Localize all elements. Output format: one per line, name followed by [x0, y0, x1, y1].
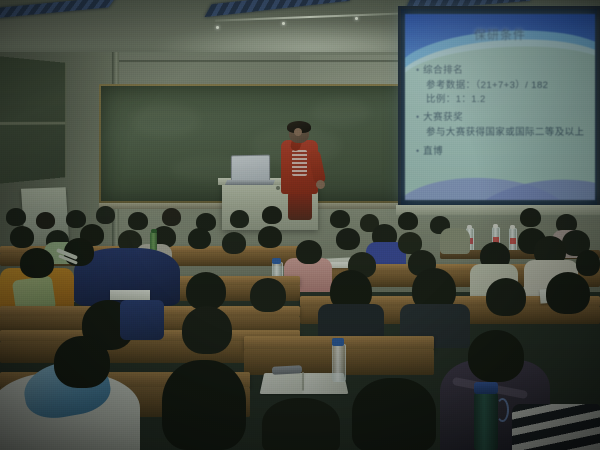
- bullet-marker: •: [416, 64, 419, 77]
- water-bottle: [332, 344, 346, 382]
- student-head: [296, 240, 322, 264]
- student-head: [182, 306, 232, 354]
- laptop-keyboard-base: [225, 180, 275, 185]
- slide-body: • 综合排名 参考数据：（21+7+3）/ 182 比例：1：1.2 • 大赛获…: [416, 64, 588, 160]
- student-head: [352, 378, 436, 450]
- thermos-bottle: [474, 392, 498, 450]
- student-head: [546, 272, 590, 314]
- bottle-cap: [272, 258, 281, 264]
- bottle-cap: [332, 338, 344, 346]
- slide-title: 保研条件: [405, 26, 595, 43]
- rail-highlight: [355, 17, 358, 20]
- side-wall-board: [0, 56, 67, 184]
- bullet-text: 大赛获奖: [423, 111, 463, 124]
- student-head: [230, 210, 249, 228]
- student-torso: [120, 300, 164, 340]
- student-head: [96, 206, 115, 224]
- student-head: [250, 278, 286, 312]
- student-head: [188, 228, 211, 249]
- student-torso: [440, 228, 470, 254]
- student-head: [128, 212, 148, 230]
- student-head: [468, 330, 524, 382]
- student-head: [222, 232, 246, 254]
- student-head: [262, 206, 282, 224]
- student-head: [54, 336, 110, 388]
- bottle-cap: [510, 225, 515, 229]
- lecture-hall-photo: 保研条件 • 综合排名 参考数据：（21+7+3）/ 182 比例：1：1.2 …: [0, 0, 600, 450]
- student-head: [486, 278, 526, 316]
- shirt-graphic-print: [292, 150, 307, 176]
- notebook: [110, 290, 150, 300]
- bullet-subtext: 参与大赛获得国家或国际二等及以上: [426, 126, 588, 140]
- slide-bullet: • 综合排名: [416, 64, 588, 77]
- bullet-text: 综合排名: [423, 64, 463, 77]
- student-head: [162, 208, 181, 226]
- slide-bullet: • 大赛获奖: [416, 111, 588, 124]
- board-divider: [0, 122, 65, 125]
- student-head: [186, 272, 226, 310]
- slide-bullet: • 直博: [416, 145, 588, 158]
- student-head: [6, 208, 26, 226]
- student-head: [20, 248, 54, 278]
- student-head: [10, 226, 34, 248]
- student-head: [66, 210, 86, 228]
- student-head: [330, 210, 350, 228]
- book-spine: [302, 372, 304, 390]
- bullet-marker: •: [416, 111, 419, 124]
- student-head: [36, 212, 55, 229]
- student-head: [258, 226, 282, 248]
- rail-highlight: [282, 22, 285, 25]
- bottle-cap: [493, 224, 498, 228]
- student-head: [398, 212, 418, 230]
- presenter-legs: [288, 192, 312, 220]
- student-head: [520, 208, 541, 227]
- bullet-subtext: 参考数据：（21+7+3）/ 182: [426, 79, 588, 93]
- bottle-cap: [467, 225, 472, 229]
- bullet-subtext: 比例：1：1.2: [426, 93, 588, 107]
- bottle-cap: [151, 229, 157, 233]
- student-head: [336, 228, 360, 250]
- bullet-text: 直博: [423, 145, 443, 158]
- projected-slide: 保研条件 • 综合排名 参考数据：（21+7+3）/ 182 比例：1：1.2 …: [405, 14, 595, 200]
- carabiner-clip: [496, 398, 509, 422]
- student-head: [162, 360, 246, 450]
- presenter-microphone-hand: [294, 128, 302, 136]
- bullet-marker: •: [416, 145, 419, 158]
- pencil-case: [272, 365, 302, 375]
- student-head: [576, 250, 600, 276]
- rail-highlight: [216, 26, 219, 29]
- student-head: [262, 398, 340, 450]
- bottle-cap: [474, 382, 498, 394]
- podium-control: [276, 186, 280, 190]
- striped-sweater: [512, 404, 600, 450]
